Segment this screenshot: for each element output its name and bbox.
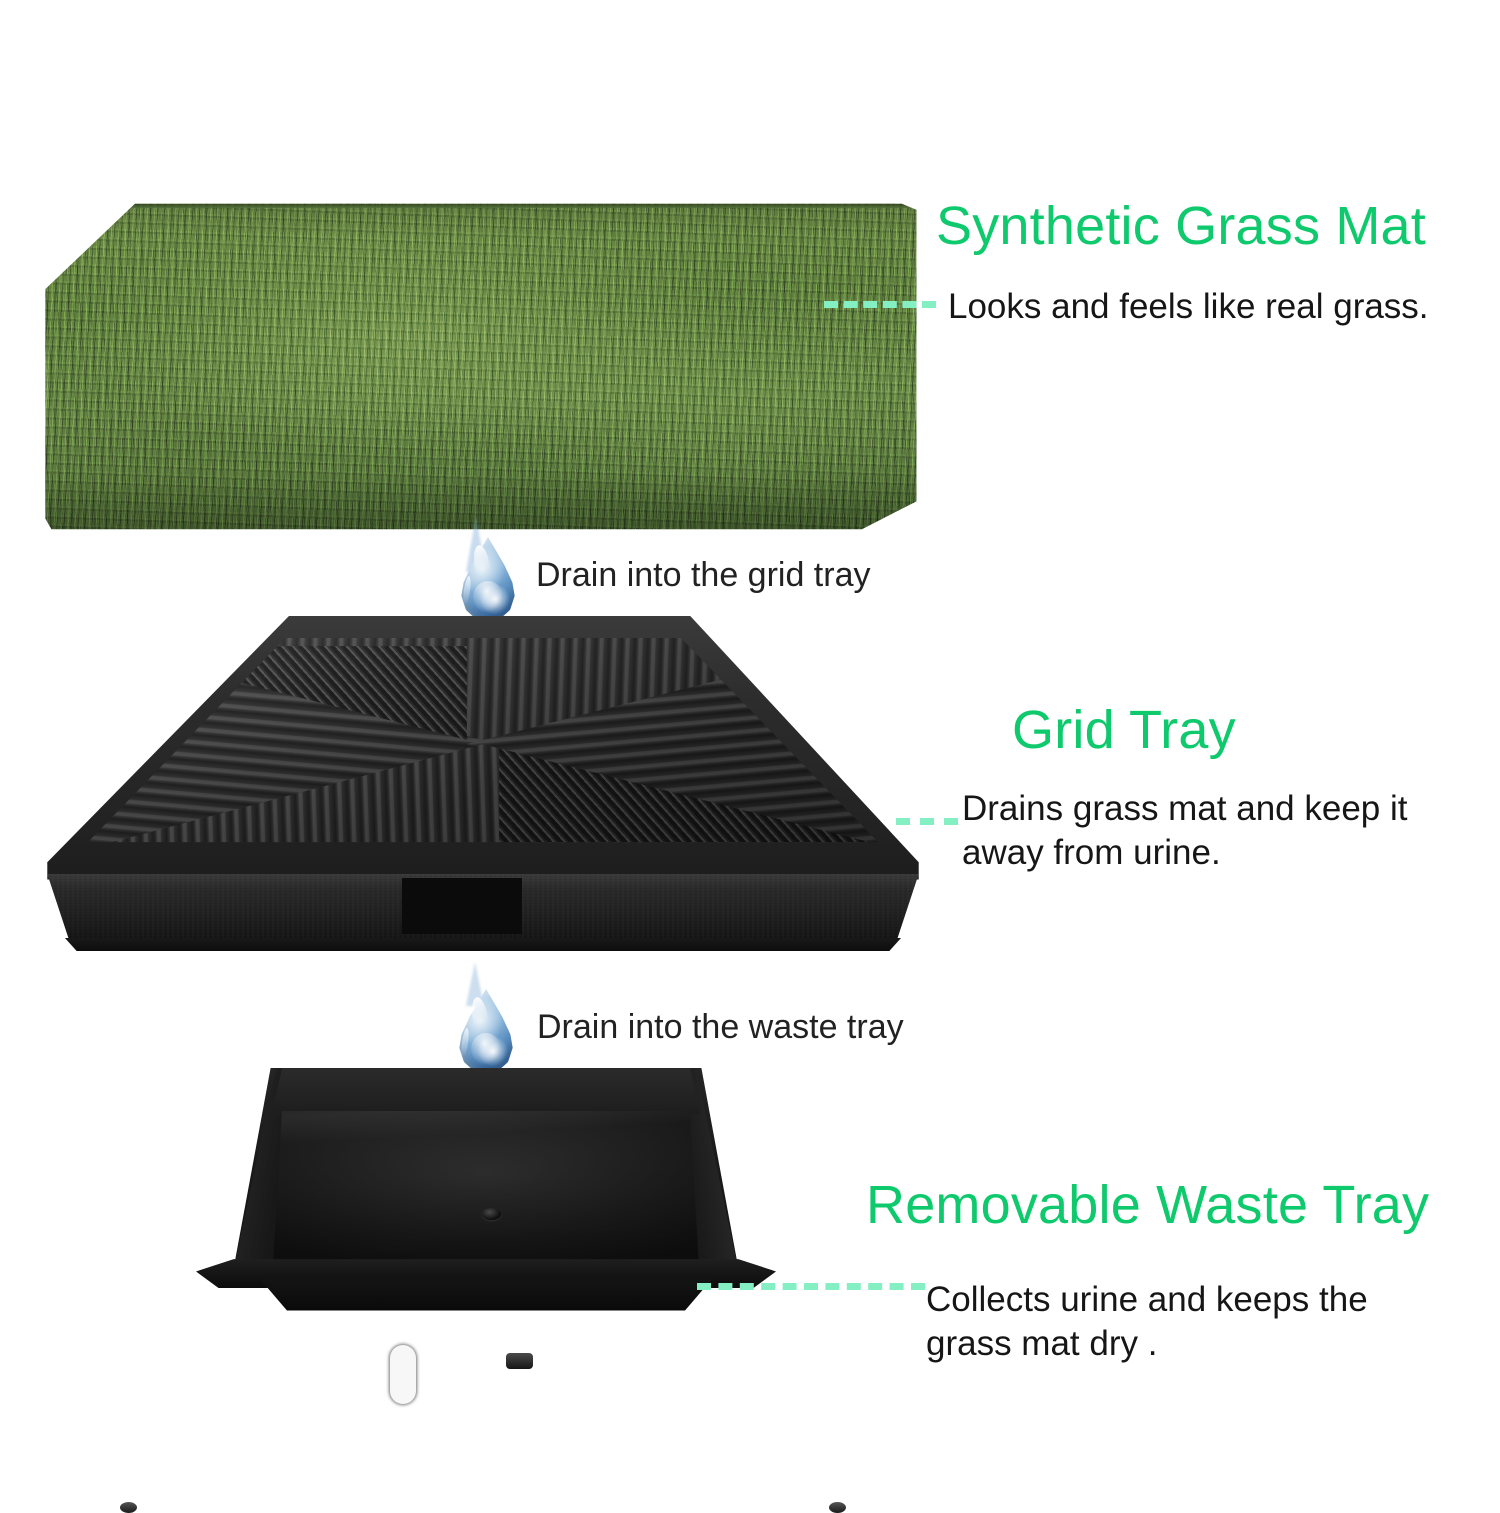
grid-tray-center-slot xyxy=(390,1345,416,1404)
grass-shading-overlay xyxy=(40,196,920,541)
waste-tray-drain-boss xyxy=(482,1208,501,1220)
infographic-canvas: Synthetic Grass Mat Looks and feels like… xyxy=(0,0,1500,1500)
water-droplet-icon xyxy=(457,989,515,1073)
heading-removable-waste-tray: Removable Waste Tray xyxy=(866,1178,1429,1232)
grid-tray-center-boss xyxy=(506,1353,533,1369)
description-synthetic-grass-mat: Looks and feels like real grass. xyxy=(948,285,1429,329)
leader-line-waste-tray xyxy=(697,1283,925,1290)
flow-label-waste-tray: Drain into the waste tray xyxy=(537,1008,904,1047)
synthetic-grass-mat-image xyxy=(40,196,920,541)
droplet-core-glow xyxy=(471,1033,501,1065)
description-removable-waste-tray: Collects urine and keeps the grass mat d… xyxy=(926,1278,1406,1366)
grid-tray-image xyxy=(42,616,924,968)
waste-tray-basin-shading xyxy=(273,1111,700,1275)
waste-tray-skirt xyxy=(260,1279,712,1311)
grid-tray-base-foot xyxy=(65,938,901,951)
waste-tray-rim-back xyxy=(271,1068,700,1115)
grid-tray-rib-field xyxy=(80,638,886,851)
leader-line-grid-tray xyxy=(896,818,958,825)
grid-tray-corner-stud-front-right xyxy=(829,1502,846,1513)
grid-tray-top-plate xyxy=(42,616,924,904)
leader-line-grass-mat xyxy=(824,301,936,308)
grid-tray-handle-notch xyxy=(402,878,522,934)
water-droplet-icon xyxy=(459,537,517,621)
removable-waste-tray-image xyxy=(196,1068,776,1313)
grass-top-edge xyxy=(119,204,907,208)
waste-tray-basin xyxy=(273,1111,700,1275)
grid-tray-corner-stud-front-left xyxy=(120,1502,137,1513)
flow-label-grid-tray: Drain into the grid tray xyxy=(536,556,871,595)
heading-synthetic-grass-mat: Synthetic Grass Mat xyxy=(936,199,1426,253)
heading-grid-tray: Grid Tray xyxy=(1012,703,1236,757)
description-grid-tray: Drains grass mat and keep it away from u… xyxy=(962,787,1432,875)
droplet-core-glow xyxy=(473,581,503,613)
